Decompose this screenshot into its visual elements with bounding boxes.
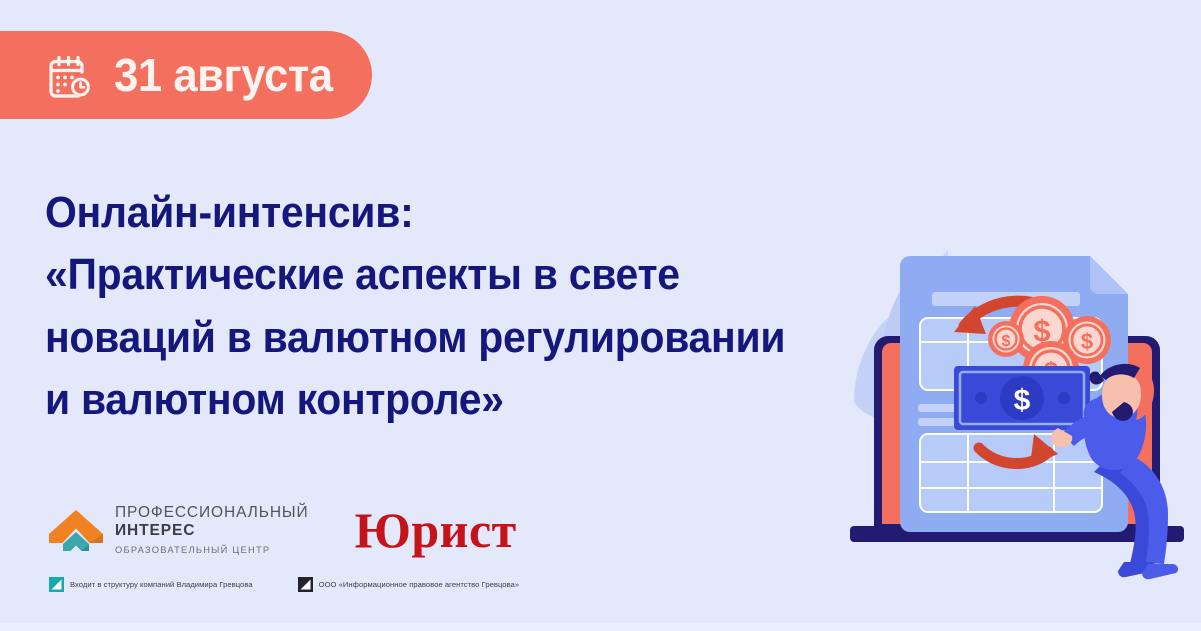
calendar-clock-icon bbox=[46, 52, 94, 100]
dollar-banknote: $ bbox=[954, 366, 1090, 430]
chevron-roof-mark-icon bbox=[48, 507, 104, 553]
svg-text:$: $ bbox=[1014, 384, 1031, 417]
fineprint-item-2: ООО «Информационное правовое агентство Г… bbox=[298, 577, 519, 592]
dark-square-mark-icon bbox=[298, 577, 313, 592]
date-badge-text: 31 августа bbox=[114, 52, 333, 98]
pi-line-3: ОБРАЗОВАТЕЛЬНЫЙ ЦЕНТР bbox=[115, 542, 270, 555]
teal-square-mark-icon bbox=[49, 577, 64, 592]
headline: Онлайн-интенсив: «Практические аспекты в… bbox=[45, 182, 808, 432]
svg-text:$: $ bbox=[1002, 333, 1011, 350]
currency-exchange-illustration: $ $ $ $ $ bbox=[836, 222, 1201, 590]
bottom-strip bbox=[0, 623, 1201, 631]
fineprint-row: Входит в структуру компаний Владимира Гр… bbox=[49, 577, 519, 592]
yurist-wordmark: Юрист bbox=[355, 505, 517, 555]
fineprint-item-1: Входит в структуру компаний Владимира Гр… bbox=[49, 577, 253, 592]
headline-line-2: «Практические аспекты в свете bbox=[45, 244, 808, 306]
pi-line-1: ПРОФЕССИОНАЛЬНЫЙ bbox=[115, 504, 309, 521]
headline-line-4: и валютном контроле» bbox=[45, 369, 808, 431]
professional-interest-wordmark: ПРОФЕССИОНАЛЬНЫЙ ИНТЕРЕС ОБРАЗОВАТЕЛЬНЫЙ… bbox=[115, 503, 309, 558]
headline-line-3: новаций в валютном регулировании bbox=[45, 307, 808, 369]
professional-interest-logo: ПРОФЕССИОНАЛЬНЫЙ ИНТЕРЕС ОБРАЗОВАТЕЛЬНЫЙ… bbox=[48, 503, 309, 558]
promo-banner: 31 августа Онлайн-интенсив: «Практически… bbox=[0, 0, 1201, 631]
headline-line-1: Онлайн-интенсив: bbox=[45, 182, 808, 244]
pi-line-2: ИНТЕРЕС bbox=[115, 522, 195, 539]
fineprint-text-1: Входит в структуру компаний Владимира Гр… bbox=[70, 580, 253, 589]
logo-row: ПРОФЕССИОНАЛЬНЫЙ ИНТЕРЕС ОБРАЗОВАТЕЛЬНЫЙ… bbox=[48, 503, 517, 558]
svg-text:$: $ bbox=[1081, 329, 1093, 354]
date-badge: 31 августа bbox=[0, 31, 372, 119]
fineprint-text-2: ООО «Информационное правовое агентство Г… bbox=[319, 580, 519, 589]
